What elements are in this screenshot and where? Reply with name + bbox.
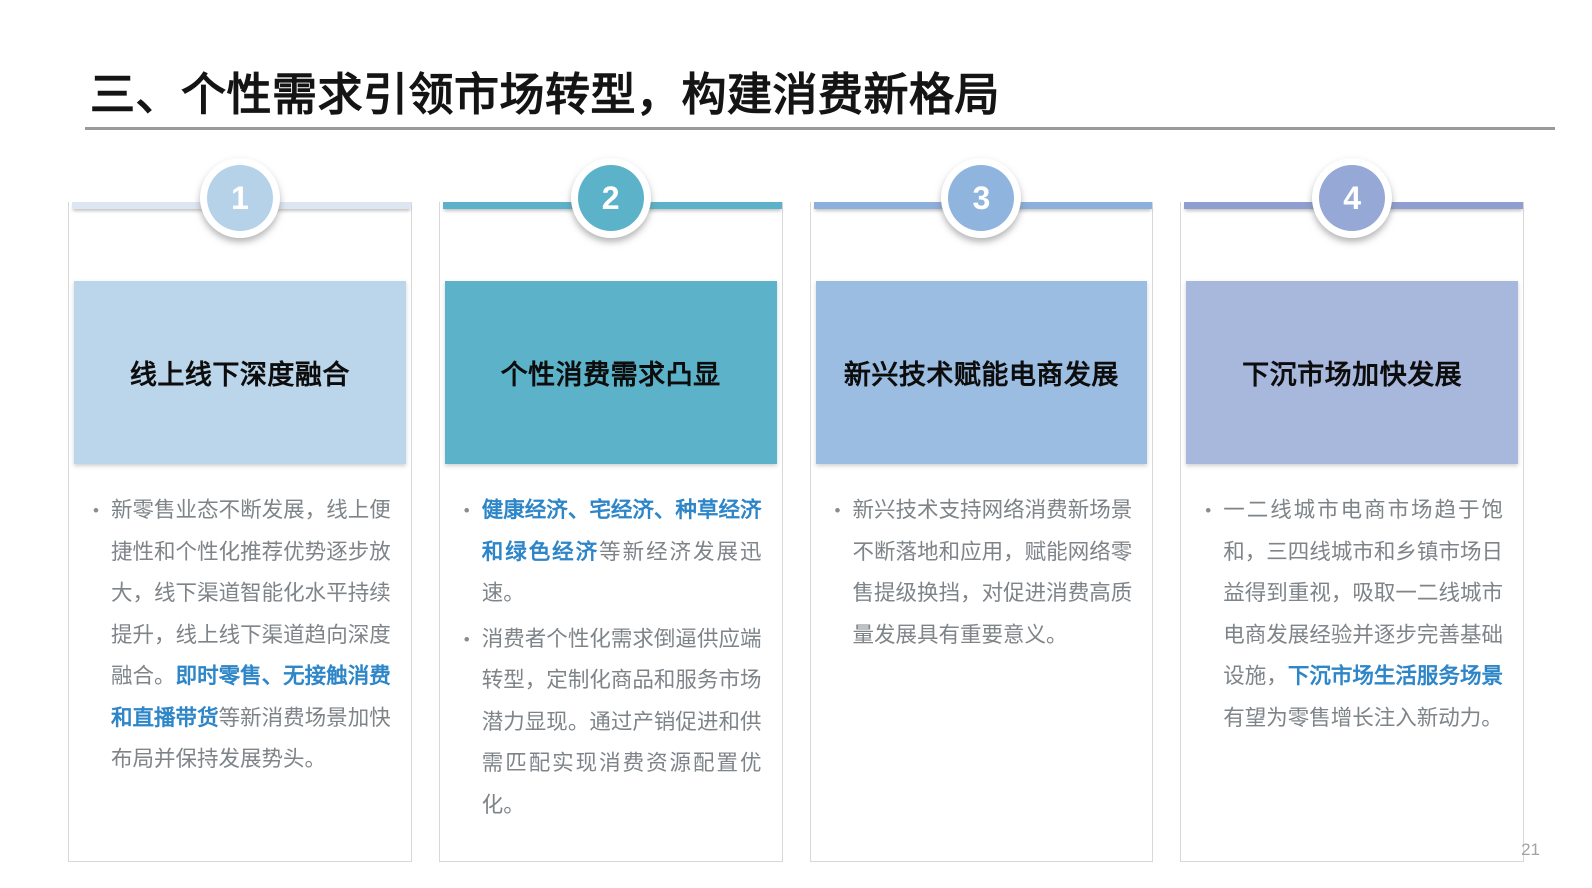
info-card: 3新兴技术赋能电商发展•新兴技术支持网络消费新场景不断落地和应用，赋能网络零售提…: [810, 202, 1154, 862]
text-run: 一二线城市电商市场趋于饱和，三四线城市和乡镇市场日益得到重视，吸取一二线城市电商…: [1223, 498, 1503, 688]
card-heading-block: 线上线下深度融合: [74, 281, 406, 464]
card-body: •健康经济、宅经济、种草经济和绿色经济等新经济发展迅速。•消费者个性化需求倒逼供…: [440, 490, 782, 830]
card-number-badge: 2: [571, 158, 651, 238]
card-body: •一二线城市电商市场趋于饱和，三四线城市和乡镇市场日益得到重视，吸取一二线城市电…: [1181, 490, 1523, 743]
card-number-label: 4: [1319, 165, 1385, 231]
bullet-dot-icon: •: [1203, 490, 1223, 739]
info-card: 4下沉市场加快发展•一二线城市电商市场趋于饱和，三四线城市和乡镇市场日益得到重视…: [1180, 202, 1524, 862]
title-divider: [85, 127, 1555, 130]
list-item: •一二线城市电商市场趋于饱和，三四线城市和乡镇市场日益得到重视，吸取一二线城市电…: [1203, 490, 1503, 739]
card-body: •新零售业态不断发展，线上便捷性和个性化推荐优势逐步放大，线下渠道智能化水平持续…: [69, 490, 411, 785]
card-heading-block: 新兴技术赋能电商发展: [816, 281, 1148, 464]
list-item-text: 一二线城市电商市场趋于饱和，三四线城市和乡镇市场日益得到重视，吸取一二线城市电商…: [1223, 490, 1503, 739]
slide-canvas: 三、个性需求引领市场转型，构建消费新格局 1线上线下深度融合•新零售业态不断发展…: [0, 0, 1592, 888]
card-body: •新兴技术支持网络消费新场景不断落地和应用，赋能网络零售提级换挡，对促进消费高质…: [811, 490, 1153, 660]
card-heading-text: 个性消费需求凸显: [501, 353, 721, 392]
list-item-text: 健康经济、宅经济、种草经济和绿色经济等新经济发展迅速。: [482, 490, 762, 615]
bullet-dot-icon: •: [462, 619, 482, 827]
card-heading-text: 下沉市场加快发展: [1242, 353, 1462, 392]
card-number-label: 1: [207, 165, 273, 231]
list-item: •消费者个性化需求倒逼供应端转型，定制化商品和服务市场潜力显现。通过产销促进和供…: [462, 619, 762, 827]
info-card: 2个性消费需求凸显•健康经济、宅经济、种草经济和绿色经济等新经济发展迅速。•消费…: [439, 202, 783, 862]
text-run: 新零售业态不断发展，线上便捷性和个性化推荐优势逐步放大，线下渠道智能化水平持续提…: [111, 498, 391, 688]
list-item-text: 新兴技术支持网络消费新场景不断落地和应用，赋能网络零售提级换挡，对促进消费高质量…: [853, 490, 1133, 656]
text-run: 有望为零售增长注入新动力。: [1223, 706, 1503, 730]
page-number: 21: [1521, 840, 1540, 860]
card-number-label: 2: [578, 165, 644, 231]
info-card: 1线上线下深度融合•新零售业态不断发展，线上便捷性和个性化推荐优势逐步放大，线下…: [68, 202, 412, 862]
card-heading-block: 个性消费需求凸显: [445, 281, 777, 464]
card-grid: 1线上线下深度融合•新零售业态不断发展，线上便捷性和个性化推荐优势逐步放大，线下…: [68, 202, 1524, 862]
card-number-badge: 4: [1312, 158, 1392, 238]
highlighted-phrase: 下沉市场生活服务场景: [1288, 664, 1503, 688]
list-item: •新兴技术支持网络消费新场景不断落地和应用，赋能网络零售提级换挡，对促进消费高质…: [833, 490, 1133, 656]
card-heading-block: 下沉市场加快发展: [1186, 281, 1518, 464]
list-item: •新零售业态不断发展，线上便捷性和个性化推荐优势逐步放大，线下渠道智能化水平持续…: [91, 490, 391, 781]
card-number-label: 3: [948, 165, 1014, 231]
card-heading-text: 线上线下深度融合: [130, 353, 350, 392]
text-run: 新兴技术支持网络消费新场景不断落地和应用，赋能网络零售提级换挡，对促进消费高质量…: [853, 498, 1133, 647]
bullet-dot-icon: •: [462, 490, 482, 615]
card-number-badge: 1: [200, 158, 280, 238]
list-item-text: 新零售业态不断发展，线上便捷性和个性化推荐优势逐步放大，线下渠道智能化水平持续提…: [111, 490, 391, 781]
bullet-dot-icon: •: [833, 490, 853, 656]
page-title: 三、个性需求引领市场转型，构建消费新格局: [90, 58, 1000, 123]
text-run: 消费者个性化需求倒逼供应端转型，定制化商品和服务市场潜力显现。通过产销促进和供需…: [482, 627, 762, 817]
list-item: •健康经济、宅经济、种草经济和绿色经济等新经济发展迅速。: [462, 490, 762, 615]
bullet-dot-icon: •: [91, 490, 111, 781]
list-item-text: 消费者个性化需求倒逼供应端转型，定制化商品和服务市场潜力显现。通过产销促进和供需…: [482, 619, 762, 827]
card-number-badge: 3: [941, 158, 1021, 238]
card-heading-text: 新兴技术赋能电商发展: [844, 353, 1119, 392]
